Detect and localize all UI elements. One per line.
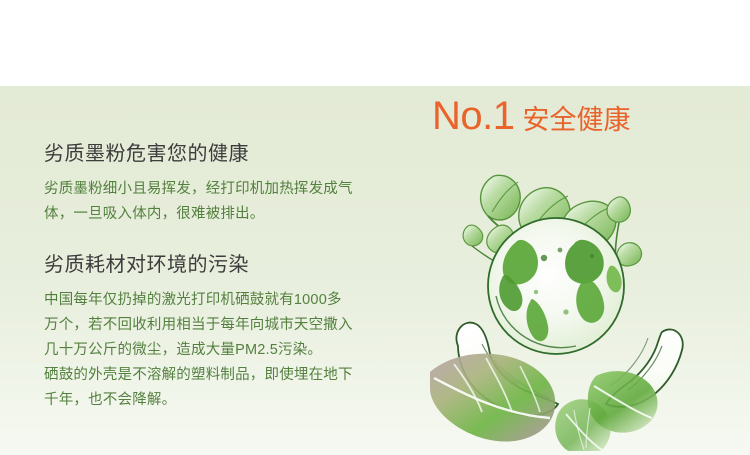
section-environment: 劣质耗材对环境的污染 中国每年仅扔掉的激光打印机硒鼓就有1000多 万个，若不回… bbox=[44, 253, 424, 413]
section-environment-heading: 劣质耗材对环境的污染 bbox=[44, 253, 424, 278]
section-health-line-1: 劣质墨粉细小且易挥发，经打印机加热挥发成气 bbox=[44, 177, 424, 202]
content-column: 劣质墨粉危害您的健康 劣质墨粉细小且易挥发，经打印机加热挥发成气 体，一旦吸入体… bbox=[44, 142, 424, 413]
section-health: 劣质墨粉危害您的健康 劣质墨粉细小且易挥发，经打印机加热挥发成气 体，一旦吸入体… bbox=[44, 142, 424, 227]
section-health-body: 劣质墨粉细小且易挥发，经打印机加热挥发成气 体，一旦吸入体内，很难被排出。 bbox=[44, 177, 424, 227]
promo-banner: No.1安全健康 Why原装硒鼓？ 劣质墨粉危害您的健康 劣质墨粉细小且易挥发，… bbox=[0, 0, 750, 455]
section-health-line-2: 体，一旦吸入体内，很难被排出。 bbox=[44, 202, 424, 227]
section-environment-body: 中国每年仅扔掉的激光打印机硒鼓就有1000多 万个，若不回收利用相当于每年向城市… bbox=[44, 288, 424, 413]
section-environment-line-3: 几十万公斤的微尘，造成大量PM2.5污染。 bbox=[44, 338, 424, 363]
section-health-heading: 劣质墨粉危害您的健康 bbox=[44, 142, 424, 167]
rank-badge-label: 安全健康 bbox=[523, 105, 631, 135]
rank-badge-number: No.1 bbox=[432, 94, 515, 138]
section-environment-line-4: 硒鼓的外壳是不溶解的塑料制品，即使埋在地下 bbox=[44, 363, 424, 388]
section-environment-line-5: 千年，也不会降解。 bbox=[44, 388, 424, 413]
section-environment-line-2: 万个，若不回收利用相当于每年向城市天空撒入 bbox=[44, 313, 424, 338]
section-environment-line-1: 中国每年仅扔掉的激光打印机硒鼓就有1000多 bbox=[44, 288, 424, 313]
rank-badge: No.1安全健康 bbox=[432, 96, 631, 136]
header-band bbox=[0, 0, 750, 86]
